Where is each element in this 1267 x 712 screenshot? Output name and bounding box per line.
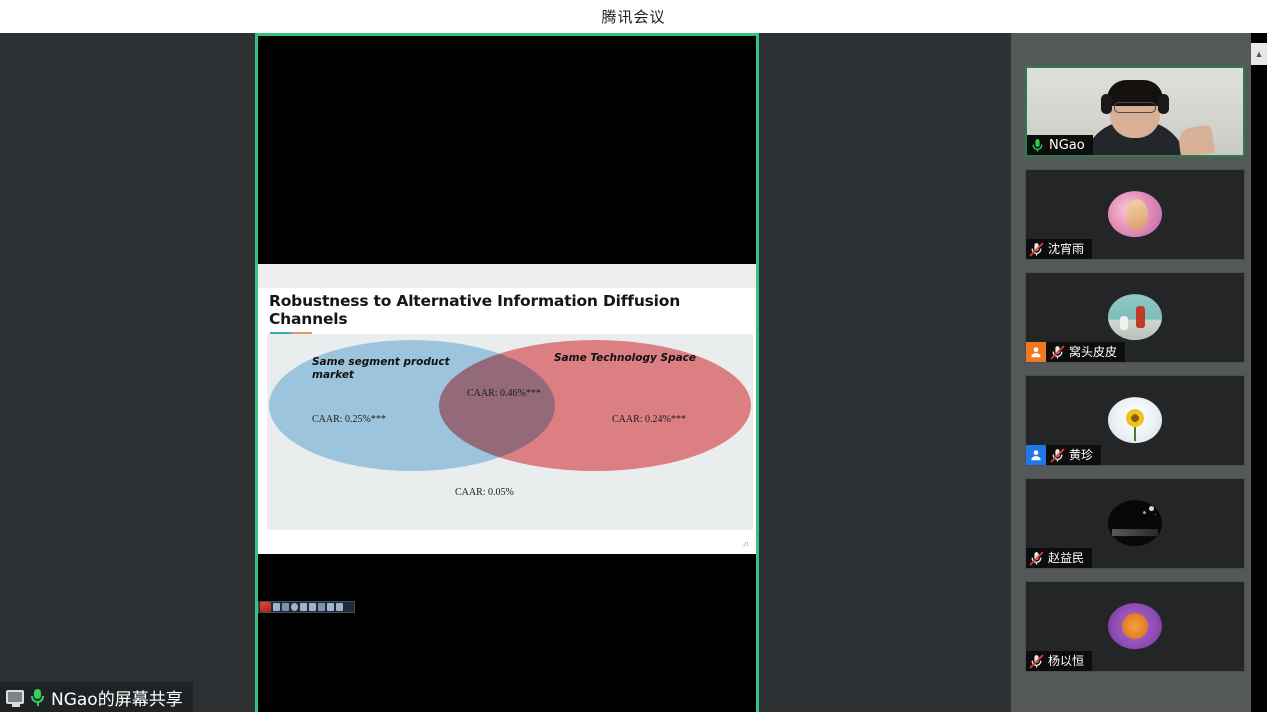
microphone-muted-icon <box>1049 344 1066 361</box>
venn-overlap-value: CAAR: 0.46%*** <box>467 388 541 399</box>
participant-name: NGao <box>1049 139 1085 152</box>
participant-name-strip: NGao <box>1027 135 1093 155</box>
participant-tile-yangyiheng[interactable]: 杨以恒 <box>1025 581 1245 672</box>
shared-desktop-content: Robustness to Alternative Information Di… <box>258 36 756 712</box>
chinese-english-toggle-icon[interactable] <box>273 603 280 611</box>
sogou-logo-icon[interactable] <box>260 602 271 612</box>
window-title-bar: 腾讯会议 <box>0 0 1267 33</box>
screen-share-banner[interactable]: NGao的屏幕共享 <box>0 682 193 712</box>
scroll-up-button[interactable]: ▲ <box>1251 43 1267 65</box>
participant-name: 杨以恒 <box>1048 655 1084 667</box>
slide-title: Robustness to Alternative Information Di… <box>269 292 739 329</box>
screen-share-frame: Robustness to Alternative Information Di… <box>255 33 759 712</box>
full-half-width-icon[interactable] <box>282 603 289 611</box>
presentation-slide: Robustness to Alternative Information Di… <box>258 264 756 554</box>
microphone-on-icon <box>30 689 45 706</box>
venn-right-value: CAAR: 0.24%*** <box>612 414 686 425</box>
participant-tile-huangzhen[interactable]: 黄珍 <box>1025 375 1245 466</box>
microphone-muted-icon <box>1028 241 1045 258</box>
avatar <box>1108 603 1162 649</box>
participant-tile-ngao[interactable]: NGao <box>1025 66 1245 157</box>
sogou-ime-toolbar[interactable] <box>258 601 355 613</box>
microphone-on-icon <box>1029 137 1046 154</box>
meeting-body: Robustness to Alternative Information Di… <box>0 33 1267 712</box>
avatar <box>1108 191 1162 237</box>
participant-name-strip: 沈宵雨 <box>1026 239 1092 259</box>
screen-share-icon <box>6 690 24 704</box>
shared-screen-stage[interactable]: Robustness to Alternative Information Di… <box>0 33 1011 712</box>
avatar <box>1108 397 1162 443</box>
venn-right-label: Same Technology Space <box>554 352 734 365</box>
slide-page-number: 21 <box>743 542 749 548</box>
window-title: 腾讯会议 <box>601 6 665 27</box>
avatar <box>1108 294 1162 340</box>
menu-icon[interactable] <box>336 603 343 611</box>
microphone-muted-icon <box>1049 447 1066 464</box>
participant-name: 窝头皮皮 <box>1069 346 1117 358</box>
microphone-muted-icon <box>1028 550 1045 567</box>
participant-name-strip: 杨以恒 <box>1026 651 1092 671</box>
tencent-meeting-window: 腾讯会议 Robustness to Alternative Informati… <box>0 0 1267 712</box>
microphone-muted-icon <box>1028 653 1045 670</box>
participant-tile-wotoupipi[interactable]: 窝头皮皮 <box>1025 272 1245 363</box>
venn-diagram: Same segment product market Same Technol… <box>267 334 753 530</box>
venn-left-label: Same segment product market <box>312 356 482 382</box>
participant-tile-shenxiaoyu[interactable]: 沈宵雨 <box>1025 169 1245 260</box>
venn-left-value: CAAR: 0.25%*** <box>312 414 386 425</box>
cohost-person-icon <box>1026 445 1046 465</box>
participant-name-strip: 赵益民 <box>1026 548 1092 568</box>
avatar <box>1108 500 1162 546</box>
participant-name-strip: 黄珍 <box>1026 445 1101 465</box>
venn-outside-value: CAAR: 0.05% <box>455 487 514 498</box>
participant-panel: ▲ <box>1011 33 1267 712</box>
participant-tiles: NGao <box>1025 66 1245 684</box>
voice-input-icon[interactable] <box>318 603 325 611</box>
participant-tile-zhaoyimin[interactable]: 赵益民 <box>1025 478 1245 569</box>
participant-name: 黄珍 <box>1069 449 1093 461</box>
skin-icon[interactable] <box>327 603 334 611</box>
slide-top-band <box>258 264 756 288</box>
keyboard-icon[interactable] <box>309 603 316 611</box>
toolbox-icon[interactable] <box>300 603 307 611</box>
panel-right-gutter <box>1251 33 1267 712</box>
participant-name-strip: 窝头皮皮 <box>1026 342 1125 362</box>
host-person-icon <box>1026 342 1046 362</box>
screen-share-banner-text: NGao的屏幕共享 <box>51 685 183 710</box>
participant-name: 沈宵雨 <box>1048 243 1084 255</box>
participant-name: 赵益民 <box>1048 552 1084 564</box>
emoji-icon[interactable] <box>291 603 298 611</box>
